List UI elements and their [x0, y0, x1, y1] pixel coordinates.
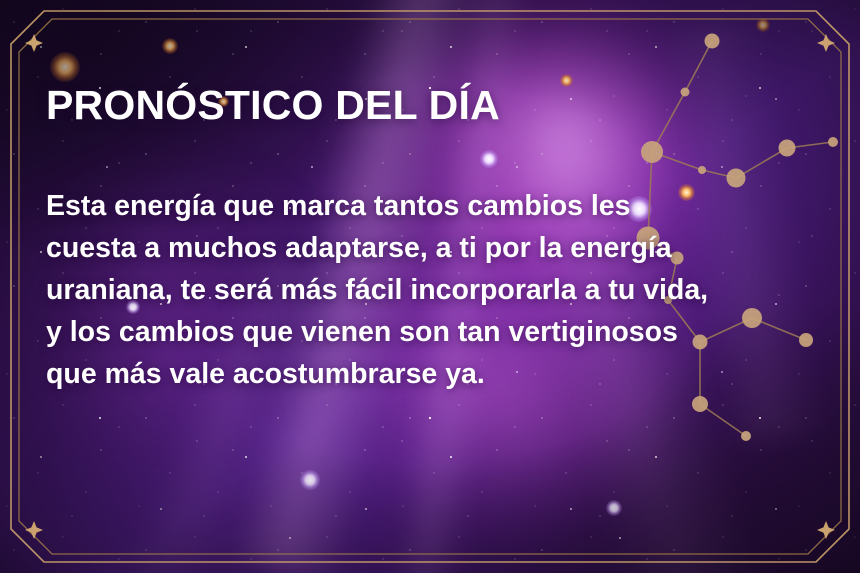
forecast-body-line: Esta energía que marca tantos cambios le…	[46, 185, 791, 227]
forecast-body-text: Esta energía que marca tantos cambios le…	[46, 127, 791, 395]
page-title: PRONÓSTICO DEL DÍA	[46, 84, 816, 127]
horoscope-card: PRONÓSTICO DEL DÍA Esta energía que marc…	[0, 0, 860, 573]
card-content: PRONÓSTICO DEL DÍA Esta energía que marc…	[46, 84, 816, 395]
forecast-body-line: y los cambios que vienen son tan vertigi…	[46, 311, 791, 353]
forecast-body-line: que más vale acostumbrarse ya.	[46, 353, 791, 395]
forecast-body-line: cuesta a muchos adaptarse, a ti por la e…	[46, 227, 791, 269]
forecast-body-line: uraniana, te será más fácil incorporarla…	[46, 269, 791, 311]
